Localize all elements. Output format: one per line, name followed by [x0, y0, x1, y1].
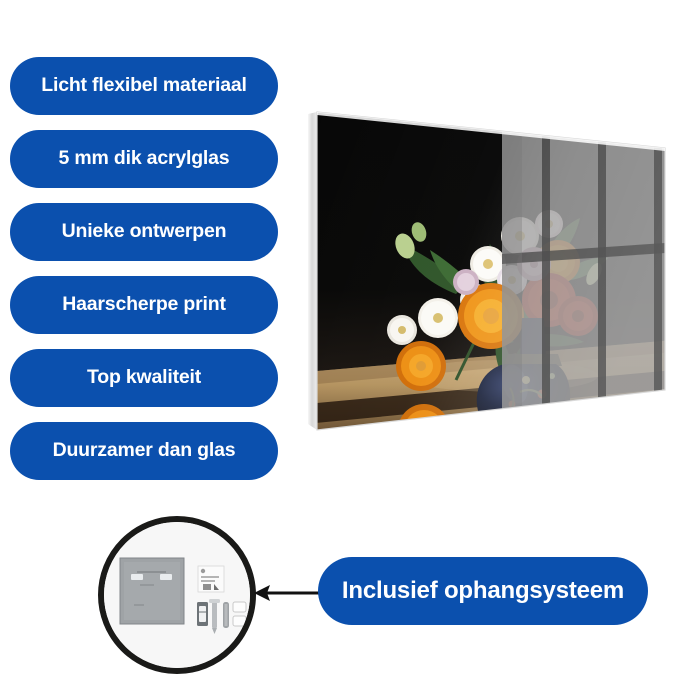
feature-badge-label: Duurzamer dan glas — [53, 441, 236, 461]
hardware-part-deuvel — [223, 602, 229, 628]
callout-badge-inclusief-ophangsysteem[interactable]: Inclusief ophangsysteem — [318, 557, 648, 625]
acrylic-panel-illustration — [306, 104, 674, 440]
callout-badge-label: Inclusief ophangsysteem — [342, 577, 624, 605]
feature-badge-label: 5 mm dik acrylglas — [59, 149, 230, 169]
feature-badge-list: Licht flexibel materiaal 5 mm dik acrylg… — [10, 57, 278, 495]
feature-badge-top-kwaliteit[interactable]: Top kwaliteit — [10, 349, 278, 407]
feature-badge-label: Licht flexibel materiaal — [41, 76, 246, 96]
hardware-part-plug — [197, 602, 208, 626]
hanging-system-parts-photo — [104, 522, 250, 668]
hardware-part-montageplaat — [120, 558, 184, 624]
feature-badge-unieke-ontwerpen[interactable]: Unieke ontwerpen — [10, 203, 278, 261]
hanging-system-circle-callout[interactable] — [98, 516, 256, 674]
feature-badge-5-mm-dik-acrylglas[interactable]: 5 mm dik acrylglas — [10, 130, 278, 188]
product-image-acrylic-panel[interactable] — [306, 104, 674, 440]
acrylic-edge-left — [308, 112, 317, 430]
feature-badge-label: Top kwaliteit — [87, 368, 201, 388]
hardware-part-instructiekaart — [198, 566, 224, 592]
feature-badge-label: Unieke ontwerpen — [62, 222, 227, 242]
feature-badge-haarscherpe-print[interactable]: Haarscherpe print — [10, 276, 278, 334]
acrylic-gloss-sheen — [306, 104, 674, 440]
feature-badge-duurzamer-dan-glas[interactable]: Duurzamer dan glas — [10, 422, 278, 480]
product-feature-infographic: Licht flexibel materiaal 5 mm dik acrylg… — [0, 0, 700, 700]
artwork-canvas — [306, 104, 674, 440]
feature-badge-licht-flexibel-materiaal[interactable]: Licht flexibel materiaal — [10, 57, 278, 115]
feature-badge-label: Haarscherpe print — [62, 295, 226, 315]
